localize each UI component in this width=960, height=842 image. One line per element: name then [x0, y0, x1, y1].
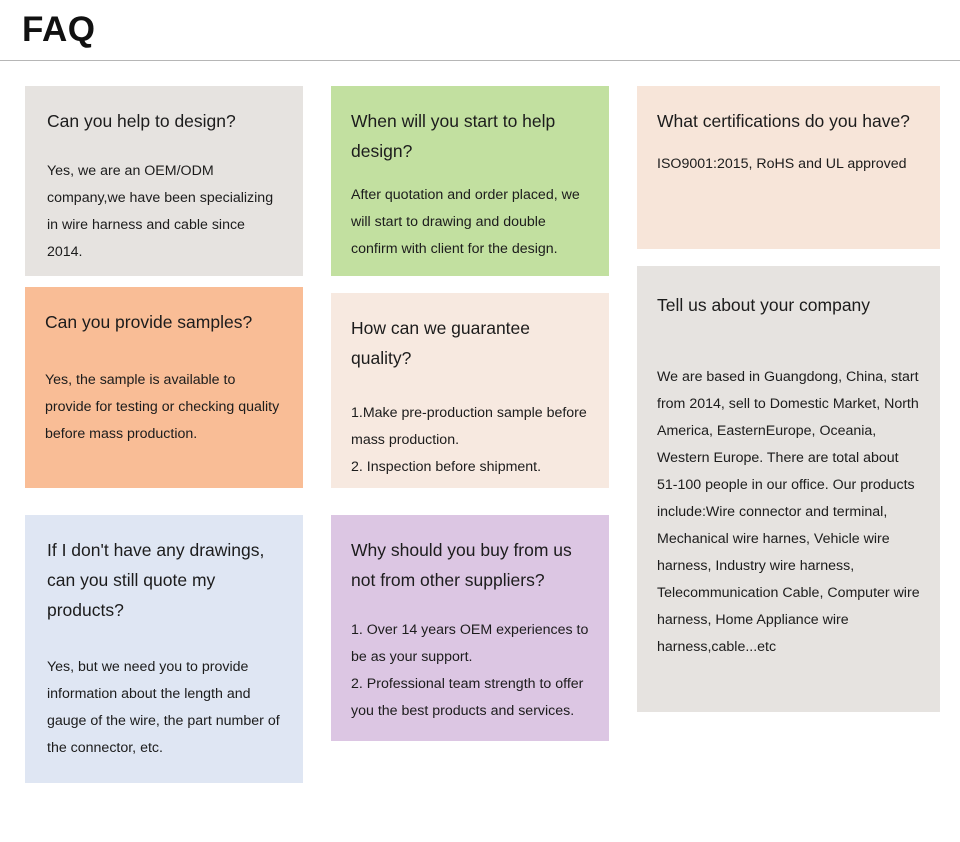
faq-answer-line: 1. Over 14 years OEM experiences to be a… — [351, 617, 589, 671]
faq-answer: ISO9001:2015, RoHS and UL approved — [657, 151, 920, 178]
faq-card-start-design: When will you start to help design? Afte… — [331, 86, 609, 276]
page-title: FAQ — [22, 8, 95, 52]
faq-answer: Yes, but we need you to provide informat… — [47, 654, 281, 762]
title-divider — [0, 60, 960, 61]
faq-answer: After quotation and order placed, we wil… — [351, 182, 589, 263]
faq-card-design: Can you help to design? Yes, we are an O… — [25, 86, 303, 276]
faq-answer: We are based in Guangdong, China, start … — [657, 364, 920, 661]
faq-question: If I don't have any drawings, can you st… — [47, 535, 281, 625]
faq-answer-line: 2. Inspection before shipment. — [351, 454, 589, 481]
faq-card-certifications: What certifications do you have? ISO9001… — [637, 86, 940, 249]
faq-card-drawings: If I don't have any drawings, can you st… — [25, 515, 303, 783]
faq-answer: Yes, we are an OEM/ODM company,we have b… — [47, 158, 281, 266]
faq-question: When will you start to help design? — [351, 106, 589, 166]
faq-page: FAQ Can you help to design? Yes, we are … — [0, 0, 960, 842]
faq-question: Tell us about your company — [657, 290, 920, 320]
faq-answer-line: 1.Make pre-production sample before mass… — [351, 400, 589, 454]
faq-card-quality: How can we guarantee quality? 1.Make pre… — [331, 293, 609, 488]
faq-answer: 1.Make pre-production sample before mass… — [351, 400, 589, 481]
faq-card-why-buy: Why should you buy from us not from othe… — [331, 515, 609, 741]
faq-question: Can you help to design? — [47, 106, 281, 136]
faq-card-company: Tell us about your company We are based … — [637, 266, 940, 712]
faq-question: Why should you buy from us not from othe… — [351, 535, 589, 595]
faq-answer: Yes, the sample is available to provide … — [45, 367, 281, 448]
faq-answer-line: 2. Professional team strength to offer y… — [351, 671, 589, 725]
faq-question: Can you provide samples? — [45, 307, 281, 337]
faq-question: What certifications do you have? — [657, 106, 920, 136]
faq-question: How can we guarantee quality? — [351, 313, 589, 373]
faq-answer: 1. Over 14 years OEM experiences to be a… — [351, 617, 589, 725]
faq-card-samples: Can you provide samples? Yes, the sample… — [25, 287, 303, 488]
